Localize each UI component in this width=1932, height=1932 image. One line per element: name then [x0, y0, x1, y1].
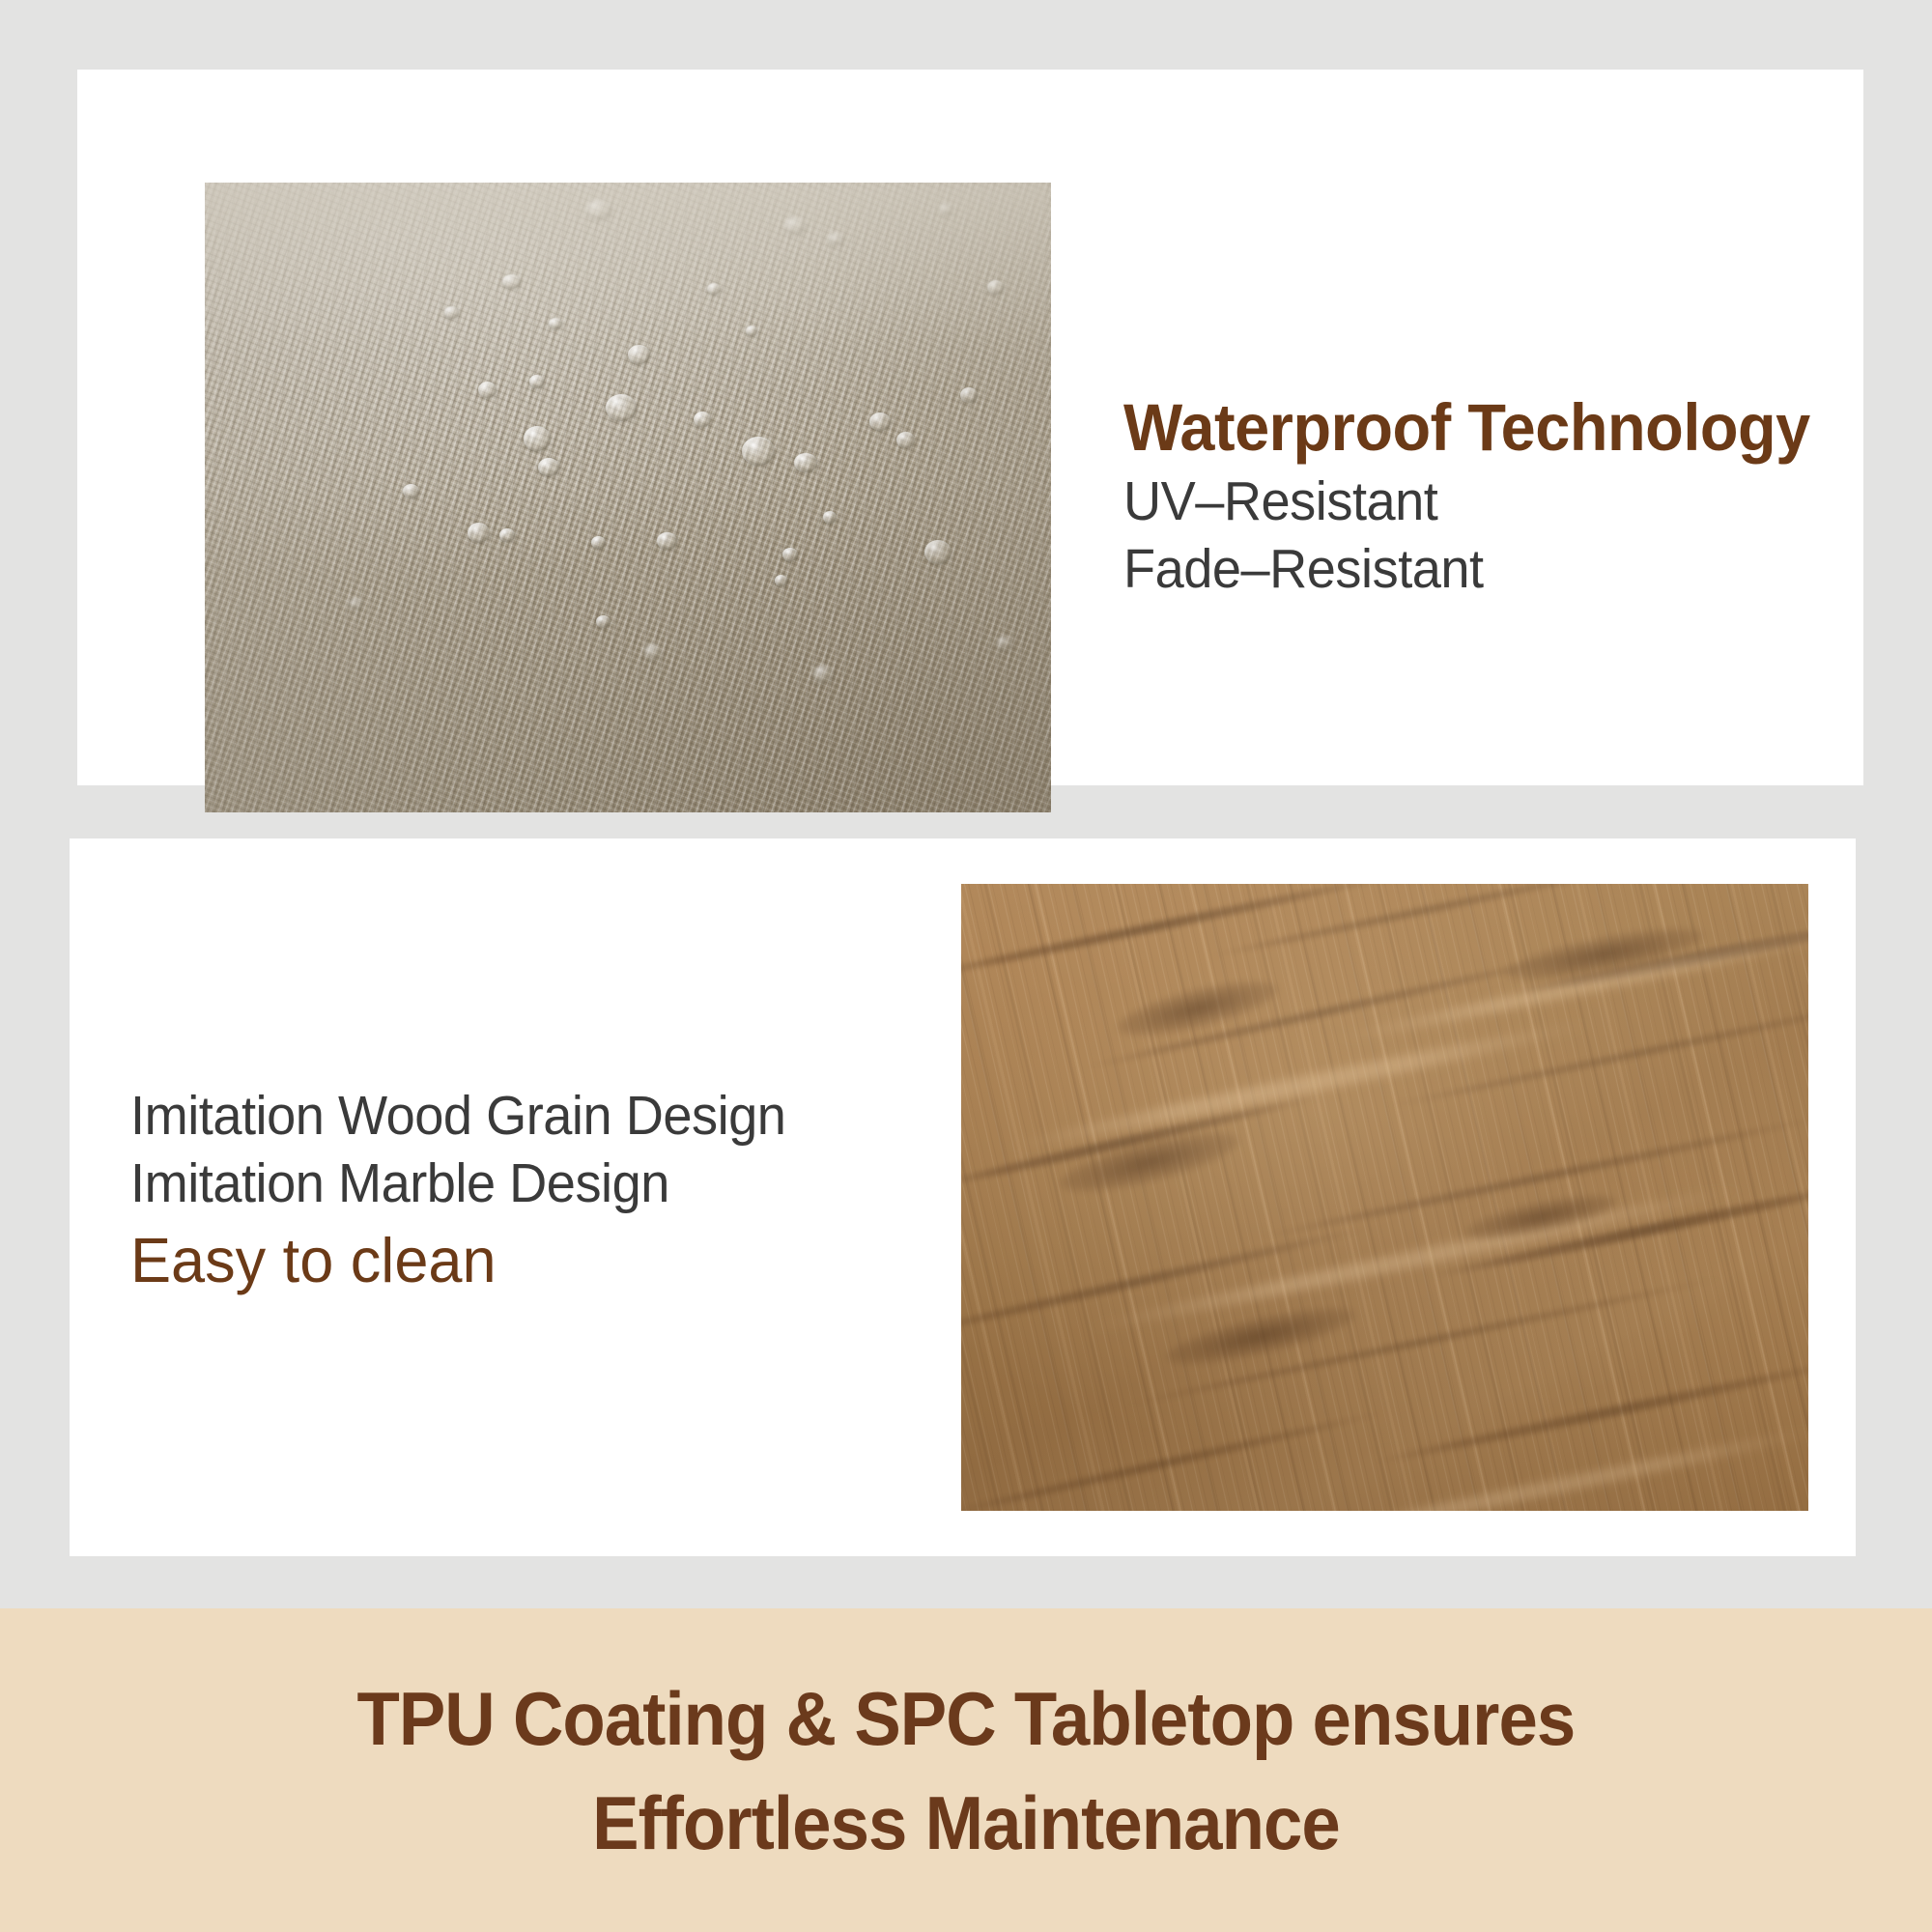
wood-grain-tabletop-photo [961, 884, 1808, 1511]
banner-line-2: Effortless Maintenance [592, 1771, 1340, 1875]
waterproof-heading: Waterproof Technology [1123, 388, 1810, 468]
fade-resistant-line: Fade–Resistant [1123, 535, 1817, 603]
imitation-marble-line: Imitation Marble Design [130, 1150, 785, 1217]
banner-line-1: TPU Coating & SPC Tabletop ensures [357, 1666, 1576, 1771]
infographic-root: Waterproof Technology UV–Resistant Fade–… [0, 0, 1932, 1932]
wood-grain-card: Imitation Wood Grain Design Imitation Ma… [70, 838, 1856, 1556]
waterproof-fabric-photo [205, 183, 1051, 812]
bottom-banner: TPU Coating & SPC Tabletop ensures Effor… [0, 1608, 1932, 1932]
fabric-depth-of-field [205, 183, 1051, 812]
imitation-wood-grain-line: Imitation Wood Grain Design [130, 1082, 785, 1150]
waterproof-text-block: Waterproof Technology UV–Resistant Fade–… [1123, 388, 1854, 603]
wood-grain-text-block: Imitation Wood Grain Design Imitation Ma… [130, 1082, 820, 1304]
uv-resistant-line: UV–Resistant [1123, 468, 1817, 535]
easy-to-clean-line: Easy to clean [130, 1217, 800, 1304]
waterproof-card: Waterproof Technology UV–Resistant Fade–… [77, 70, 1863, 785]
wood-vignette [961, 884, 1808, 1511]
